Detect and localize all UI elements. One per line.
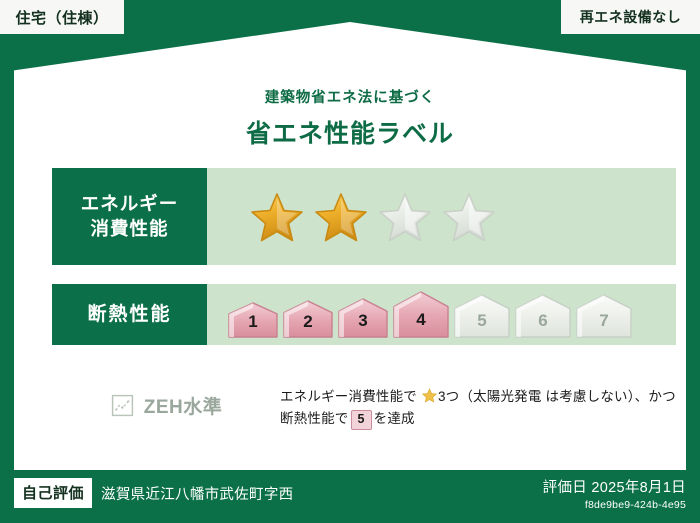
building-type-tab: 住宅（住棟） — [0, 0, 124, 34]
insulation-performance-row: 断熱性能 1234567 — [52, 284, 676, 345]
insulation-grade-badge: 3 — [337, 297, 389, 339]
zeh-description-block: ZEH水準 エネルギー消費性能で 3つ（太陽光発電 は考慮しない）、かつ断熱性能… — [52, 378, 676, 430]
insulation-grade-value: 4 — [392, 310, 450, 330]
insulation-grade-value: 3 — [337, 311, 389, 331]
insulation-grade-chip: 5 — [351, 410, 372, 430]
zeh-standard-mark: ZEH水準 — [52, 378, 280, 419]
evaluation-info: 評価日 2025年8月1日 f8de9be9-424b-4e95 — [543, 476, 686, 511]
label-subtitle: 建築物省エネ法に基づく — [14, 86, 686, 107]
insulation-grade-value: 1 — [227, 312, 279, 332]
energy-performance-value — [207, 168, 676, 265]
label-footer: 自己評価 滋賀県近江八幡市武佐町字西 評価日 2025年8月1日 f8de9be… — [14, 473, 686, 513]
insulation-grade-badge: 2 — [282, 299, 334, 339]
energy-performance-row: エネルギー 消費性能 — [52, 168, 676, 265]
evaluation-id: f8de9be9-424b-4e95 — [543, 499, 686, 511]
achievement-description: エネルギー消費性能で 3つ（太陽光発電 は考慮しない）、かつ断熱性能で5を達成 — [280, 378, 676, 430]
evaluation-date: 評価日 2025年8月1日 — [543, 476, 686, 497]
inline-star-icon — [422, 388, 437, 403]
insulation-grade-badge: 4 — [392, 290, 450, 339]
label-card: 建築物省エネ法に基づく 省エネ性能ラベル エネルギー 消費性能 断熱性能 123… — [14, 22, 686, 470]
building-type-label: 住宅（住棟） — [15, 7, 108, 28]
property-address: 滋賀県近江八幡市武佐町字西 — [101, 483, 293, 504]
insulation-grade-value: 6 — [514, 311, 572, 331]
energy-label-line2: 消費性能 — [90, 217, 168, 241]
star-filled-icon — [315, 192, 367, 242]
insulation-grade-badge: 7 — [575, 293, 633, 339]
insulation-grade-value: 2 — [282, 312, 334, 332]
house-zeh-icon — [110, 393, 135, 418]
desc-line1-prefix: エネルギー消費性能で — [280, 389, 417, 404]
label-title-block: 建築物省エネ法に基づく 省エネ性能ラベル — [14, 86, 686, 150]
star-rating — [207, 192, 495, 242]
insulation-grade-value: 5 — [453, 311, 511, 331]
insulation-grade-scale: 1234567 — [207, 290, 633, 339]
star-filled-icon — [251, 192, 303, 242]
renewable-equipment-tab: 再エネ設備なし — [561, 0, 700, 34]
insulation-label-text: 断熱性能 — [87, 302, 171, 327]
desc-line2-suffix: を達成 — [374, 411, 415, 426]
insulation-grade-badge: 6 — [514, 293, 572, 339]
energy-performance-label: エネルギー 消費性能 — [52, 168, 207, 265]
desc-line1-suffix: 3つ（太陽光発電 — [438, 389, 542, 404]
insulation-grade-badge: 5 — [453, 293, 511, 339]
insulation-performance-label: 断熱性能 — [52, 284, 207, 345]
insulation-grade-badge: 1 — [227, 301, 279, 339]
renewable-equipment-label: 再エネ設備なし — [580, 7, 682, 27]
star-empty-icon — [443, 192, 495, 242]
star-empty-icon — [379, 192, 431, 242]
insulation-performance-value: 1234567 — [207, 284, 676, 345]
label-main-title: 省エネ性能ラベル — [14, 114, 686, 150]
insulation-grade-value: 7 — [575, 311, 633, 331]
energy-label-line1: エネルギー — [81, 192, 179, 216]
self-assessment-badge: 自己評価 — [14, 478, 92, 508]
energy-label-frame: 建築物省エネ法に基づく 省エネ性能ラベル エネルギー 消費性能 断熱性能 123… — [0, 0, 700, 523]
zeh-label: ZEH水準 — [144, 392, 223, 419]
